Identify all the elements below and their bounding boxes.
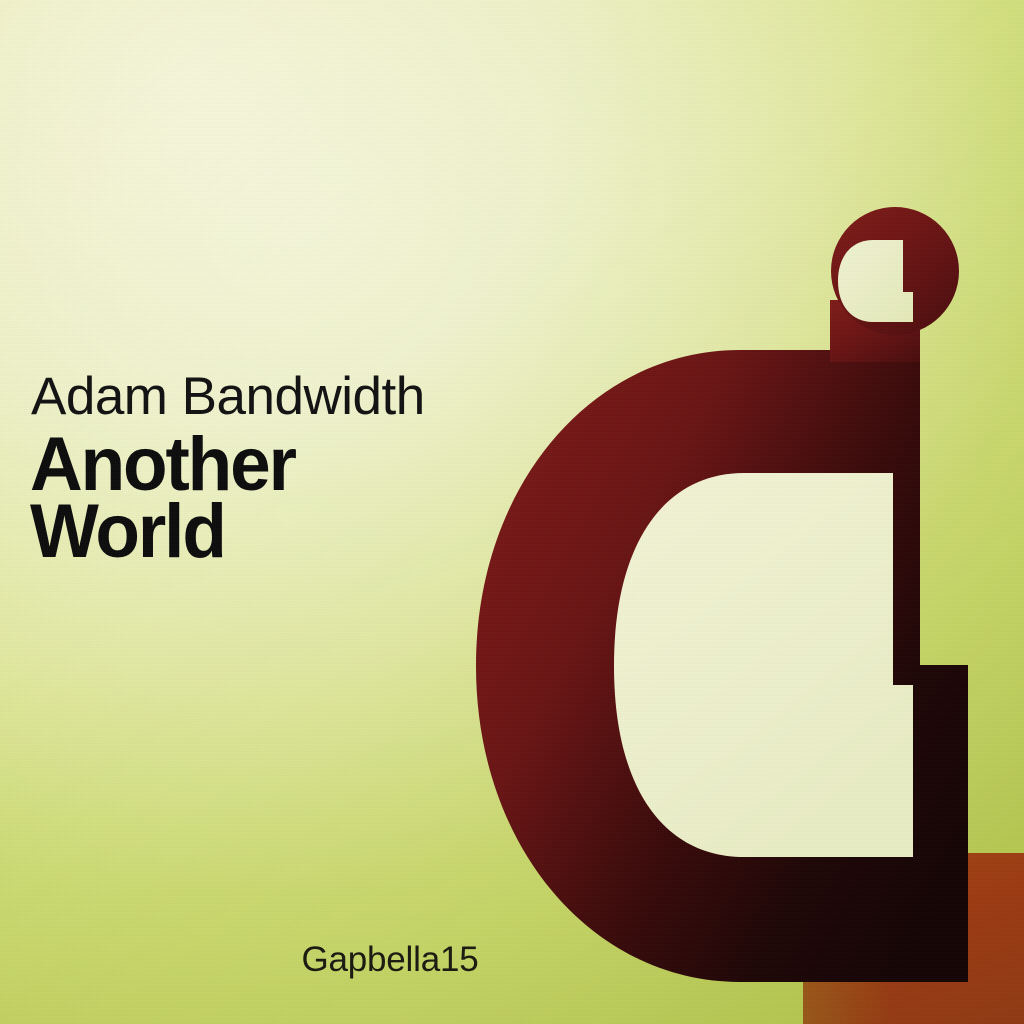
logo-main-g [476, 350, 968, 982]
logo-circle-mark [831, 207, 959, 335]
album-cover: Adam Bandwidth Another World Gapbella15 [0, 0, 1024, 1024]
album-title: Another World [30, 432, 295, 566]
album-title-line-2: World [30, 499, 295, 566]
artist-name: Adam Bandwidth [31, 370, 425, 423]
record-label: Gapbella15 [0, 940, 780, 980]
